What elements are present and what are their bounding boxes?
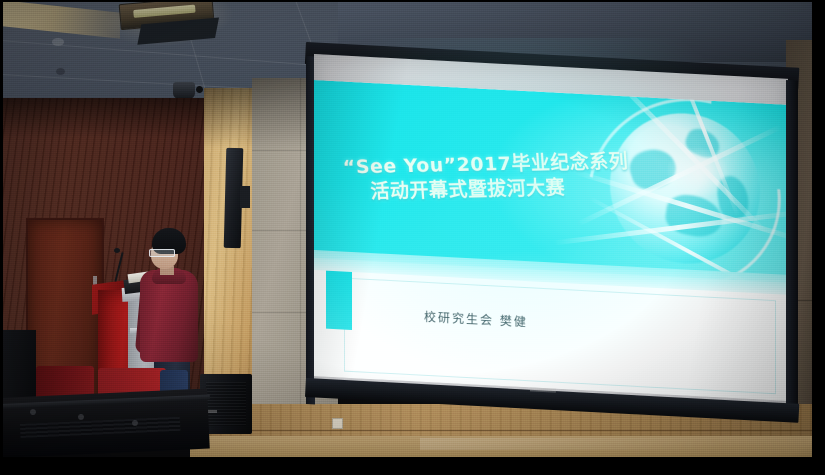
presentation-slide: “See You”2017毕业纪念系列 活动开幕式暨拔河大赛 校研究生会 樊健 (314, 80, 788, 401)
frame-border-top (0, 0, 825, 2)
speaker-badge (208, 410, 217, 413)
projector-lens-icon (196, 86, 203, 93)
globe-glint (666, 144, 730, 199)
frame-border-right (812, 0, 825, 475)
presentation-photo: “See You”2017毕业纪念系列 活动开幕式暨拔河大赛 校研究生会 樊健 (0, 0, 825, 475)
glasses-icon (149, 249, 175, 257)
slide-title-line-1: “See You”2017毕业纪念系列 (342, 150, 629, 178)
microphone-icon (114, 248, 120, 253)
bench-knob-icon (78, 414, 84, 420)
bench-knob-icon (30, 409, 36, 415)
ceiling-sprinkler-icon (52, 38, 64, 46)
bench-knob-icon (132, 420, 138, 426)
frame-border-bottom (0, 457, 825, 475)
slide-title: “See You”2017毕业纪念系列 活动开幕式暨拔河大赛 (342, 149, 675, 206)
floor-reflection (420, 438, 720, 450)
column-shadow (204, 88, 256, 148)
screen-surface: “See You”2017毕业纪念系列 活动开幕式暨拔河大赛 校研究生会 樊健 (314, 54, 788, 413)
ceiling-sensor-icon (56, 68, 65, 75)
wall-outlet-icon[interactable] (332, 418, 343, 429)
projection-screen[interactable]: “See You”2017毕业纪念系列 活动开幕式暨拔河大赛 校研究生会 樊健 (300, 38, 800, 410)
frame-border-left (0, 0, 3, 475)
screen-right-rail (786, 80, 798, 411)
ceiling-light-fixture (118, 0, 217, 44)
slide-accent-bar (326, 271, 352, 330)
ceiling-projector (173, 82, 195, 99)
wainscot-seam (200, 430, 825, 431)
wall-shadow (0, 98, 212, 138)
speaker-grille (206, 382, 246, 426)
speaker-bracket (240, 186, 250, 208)
